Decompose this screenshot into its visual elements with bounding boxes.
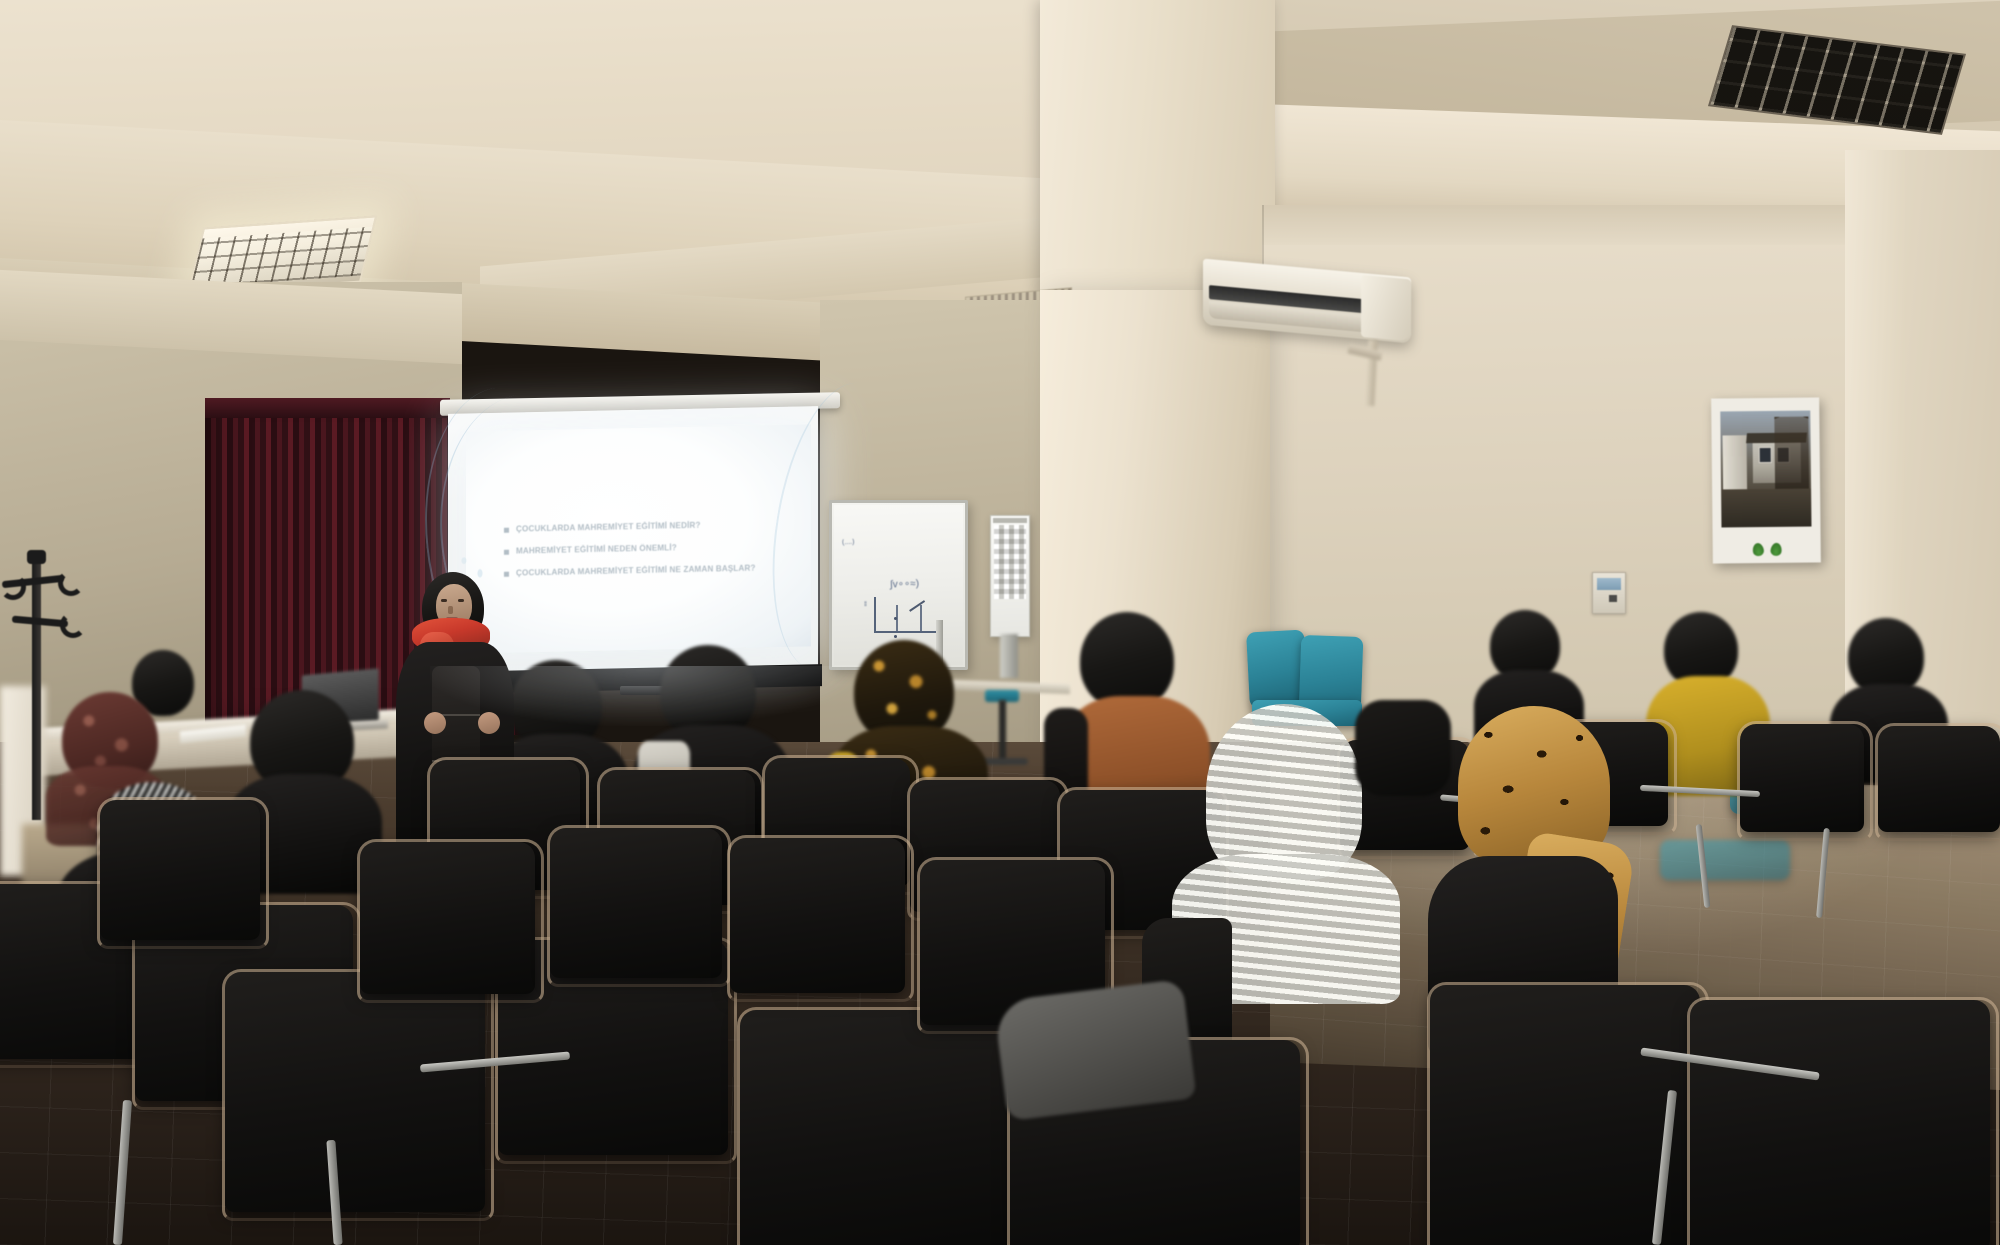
chair-right-row[interactable] — [1878, 726, 2000, 832]
poster-caption — [1713, 531, 1821, 532]
presenter-eye-left — [441, 599, 447, 602]
leaf-icon — [1751, 542, 1764, 556]
slide-bullet-list: ÇOCUKLARDA MAHREMİYET EĞİTİMİ NEDİR? MAH… — [504, 519, 794, 579]
thermostat-panel[interactable] — [1592, 572, 1626, 614]
chair-piping — [1875, 723, 2000, 841]
coat-rack — [32, 560, 41, 820]
chart-grid — [994, 525, 1026, 599]
thermostat-button[interactable] — [1609, 595, 1617, 602]
coat-hook-icon — [60, 612, 86, 638]
coat-hook-icon — [58, 570, 84, 596]
whiteboard-axis-y — [874, 597, 876, 633]
ceiling-beam-main — [1040, 0, 1275, 300]
chair-piping — [547, 825, 731, 987]
chair-front-row[interactable] — [740, 1010, 1010, 1245]
framed-poster — [1711, 397, 1821, 563]
bullet-square-icon — [504, 571, 509, 576]
chair-mid-row[interactable] — [100, 800, 260, 940]
whiteboard-axis-x — [874, 631, 936, 633]
whiteboard-dot — [894, 617, 897, 620]
poster-tree — [1774, 417, 1809, 491]
coat-rack-top — [27, 550, 46, 564]
whiteboard-dot — [894, 635, 897, 638]
poster-ground — [1721, 489, 1811, 528]
whiteboard-note-1: (....) — [842, 539, 855, 547]
whiteboard-arrow — [909, 600, 925, 611]
stage-curtain-header — [205, 398, 450, 418]
chair-front-row[interactable] — [1690, 1000, 1990, 1245]
chair-piping — [222, 969, 494, 1221]
chair-mid-row[interactable] — [360, 842, 535, 994]
slide-bullet-item: MAHREMİYET EĞİTİMİ NEDEN ÖNEMLİ? — [504, 541, 794, 557]
chair-mid-row[interactable] — [730, 838, 905, 993]
thermostat-screen — [1597, 578, 1621, 590]
poster-photograph — [1720, 411, 1811, 528]
slide-bullet-text: MAHREMİYET EĞİTİMİ NEDEN ÖNEMLİ? — [516, 543, 677, 556]
chair-piping — [97, 797, 269, 949]
bullet-square-icon — [504, 549, 509, 554]
presenter-hand-left — [424, 712, 446, 734]
teal-chair-blurred — [1660, 840, 1790, 880]
chair-piping — [1737, 721, 1873, 841]
bullet-square-icon — [504, 527, 509, 532]
chair-piping — [727, 835, 914, 1002]
chair-right-row[interactable] — [1740, 724, 1864, 832]
chair-front-row[interactable] — [225, 972, 485, 1212]
bag-on-chair — [1355, 700, 1451, 796]
poster-window-left — [1759, 447, 1772, 463]
chair-mid-row[interactable] — [550, 828, 722, 978]
whiteboard-tick — [920, 605, 922, 631]
wall-chart-board — [990, 515, 1030, 637]
projected-slide: ÇOCUKLARDA MAHREMİYET EĞİTİMİ NEDİR? MAH… — [466, 424, 811, 653]
chair-piping — [357, 839, 544, 1003]
stool-leg — [999, 700, 1006, 762]
poster-logo-row — [1713, 539, 1821, 558]
leaf-icon — [1769, 542, 1782, 556]
presenter-nose — [448, 606, 453, 614]
chair-piping — [1687, 997, 1999, 1245]
whiteboard-note-2: ∫v∘∘≈) — [890, 578, 919, 590]
draped-coat — [993, 979, 1196, 1121]
ac-side-cap — [1361, 275, 1411, 342]
chart-stand — [1000, 634, 1018, 678]
light-grid — [191, 227, 373, 288]
presenter-eye-right — [458, 599, 464, 602]
chart-header-bar — [993, 518, 1027, 523]
coat-hook-icon — [0, 574, 26, 600]
wall-right-top-band — [1262, 205, 1862, 245]
presenter-hand-right — [478, 712, 500, 734]
chair-piping — [737, 1007, 1019, 1245]
whiteboard-y-label: ≡≡ — [863, 601, 868, 606]
seminar-room-photo: ÇOCUKLARDA MAHREMİYET EĞİTİMİ NEDİR? MAH… — [0, 0, 2000, 1245]
